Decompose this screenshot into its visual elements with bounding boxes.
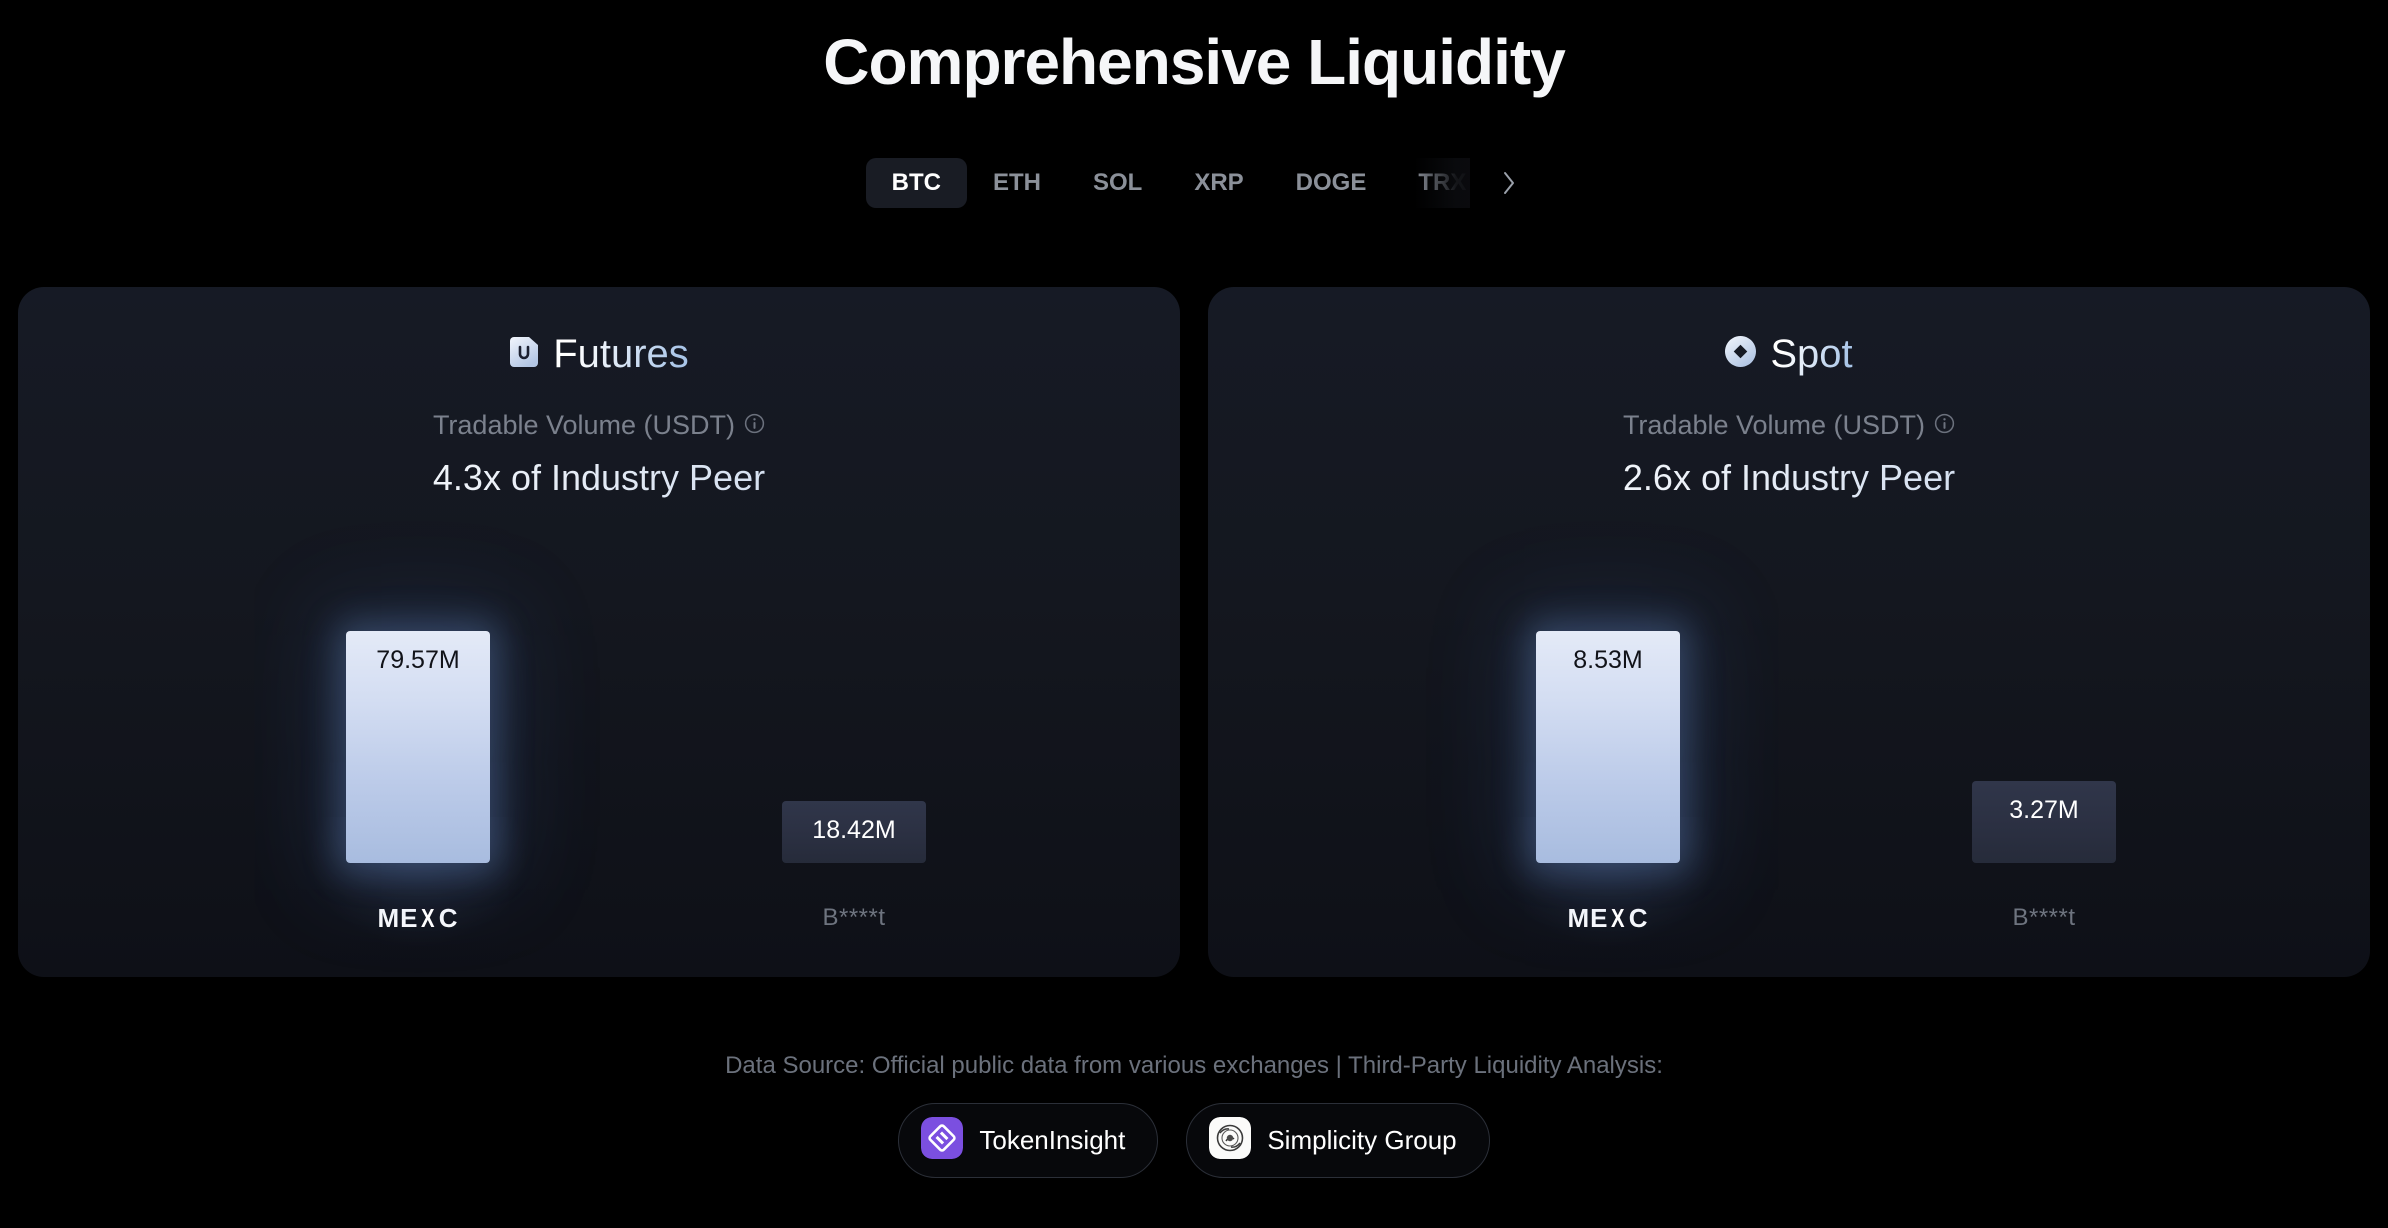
mexc-logo: MEXC — [1567, 903, 1648, 934]
futures-card-header: Futures — [18, 329, 1180, 379]
futures-metric-label-row: Tradable Volume (USDT) — [18, 409, 1180, 443]
futures-peer-bar-value: 18.42M — [812, 815, 895, 845]
asset-tabs-scroller[interactable]: BTC ETH SOL XRP DOGE TRX — [866, 158, 1497, 208]
futures-peer-bar: 18.42M — [782, 801, 926, 863]
futures-card-title: Futures — [553, 329, 689, 379]
simplicity-group-badge[interactable]: Simplicity Group — [1186, 1103, 1489, 1178]
peer-logo: B****t — [822, 904, 885, 932]
spot-bar-chart: 8.53M MEXC 3.27M B****t — [1208, 603, 2370, 933]
spot-metric-label: Tradable Volume (USDT) — [1623, 409, 1925, 443]
asset-tabs: BTC ETH SOL XRP DOGE TRX — [0, 158, 2388, 208]
liquidity-cards: Futures Tradable Volume (USDT) 4.3x of I… — [18, 287, 2370, 977]
info-icon[interactable] — [1934, 409, 1955, 443]
futures-headline: 4.3x of Industry Peer — [18, 455, 1180, 502]
spot-mexc-bar-area: 8.53M — [1458, 631, 1758, 863]
tab-doge[interactable]: DOGE — [1270, 158, 1393, 208]
spot-peer-bar-value: 3.27M — [2009, 795, 2078, 825]
futures-mexc-bar-area: 79.57M — [268, 631, 568, 863]
spot-card-header: Spot — [1208, 329, 2370, 379]
chevron-right-icon[interactable] — [1496, 166, 1522, 200]
spot-peer-bar: 3.27M — [1972, 781, 2116, 863]
peer-logo: B****t — [2012, 904, 2075, 932]
tokeninsight-logo-icon — [921, 1117, 963, 1164]
tab-btc[interactable]: BTC — [866, 158, 967, 208]
spot-metric-label-row: Tradable Volume (USDT) — [1208, 409, 2370, 443]
tab-xrp[interactable]: XRP — [1168, 158, 1269, 208]
spot-bar-group-peer: 3.27M B****t — [1894, 631, 2194, 933]
spot-mexc-bar-label: MEXC — [1458, 903, 1758, 933]
spot-mexc-bar: 8.53M — [1536, 631, 1680, 863]
simplicity-group-logo-icon — [1209, 1117, 1251, 1164]
futures-peer-bar-label: B****t — [704, 903, 1004, 933]
tokeninsight-badge-label: TokenInsight — [979, 1125, 1125, 1156]
simplicity-group-badge-label: Simplicity Group — [1267, 1125, 1456, 1156]
tab-sol[interactable]: SOL — [1067, 158, 1168, 208]
futures-bar-chart: 79.57M MEXC 18.42M B****t — [18, 603, 1180, 933]
footer: Data Source: Official public data from v… — [0, 1050, 2388, 1178]
futures-metric-label: Tradable Volume (USDT) — [433, 409, 735, 443]
futures-mexc-bar-label: MEXC — [268, 903, 568, 933]
futures-bar-group-mexc: 79.57M MEXC — [268, 631, 568, 933]
spot-headline: 2.6x of Industry Peer — [1208, 455, 2370, 502]
tab-trx[interactable]: TRX — [1392, 158, 1492, 208]
tab-eth[interactable]: ETH — [967, 158, 1067, 208]
info-icon[interactable] — [744, 409, 765, 443]
spot-mexc-bar-value: 8.53M — [1573, 645, 1642, 675]
data-source-text: Data Source: Official public data from v… — [0, 1050, 2388, 1081]
spot-card: Spot Tradable Volume (USDT) 2.6x of Indu… — [1208, 287, 2370, 977]
tokeninsight-badge[interactable]: TokenInsight — [898, 1103, 1158, 1178]
futures-usdt-icon — [509, 336, 539, 373]
futures-card: Futures Tradable Volume (USDT) 4.3x of I… — [18, 287, 1180, 977]
partner-badges: TokenInsight Simplicity Group — [0, 1103, 2388, 1178]
page-title: Comprehensive Liquidity — [0, 24, 2388, 101]
spot-peer-bar-label: B****t — [1894, 903, 2194, 933]
mexc-logo: MEXC — [377, 903, 458, 934]
spot-peer-bar-area: 3.27M — [1894, 631, 2194, 863]
spot-diamond-icon — [1725, 336, 1756, 372]
futures-peer-bar-area: 18.42M — [704, 631, 1004, 863]
futures-mexc-bar: 79.57M — [346, 631, 490, 863]
spot-bar-group-mexc: 8.53M MEXC — [1458, 631, 1758, 933]
spot-card-title: Spot — [1770, 329, 1852, 379]
futures-bar-group-peer: 18.42M B****t — [704, 631, 1004, 933]
futures-mexc-bar-value: 79.57M — [376, 645, 459, 675]
